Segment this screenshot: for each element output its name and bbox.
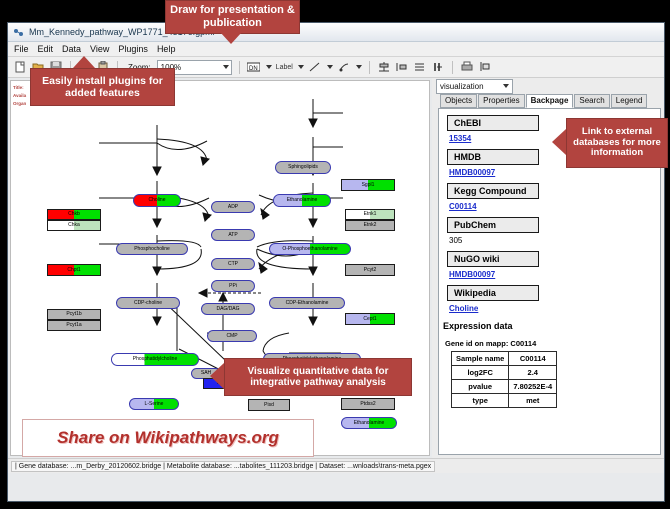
- table-key: type: [452, 394, 509, 408]
- db-header-4: NuGO wiki: [447, 251, 539, 267]
- pathway-node-label: Etnk2: [364, 223, 377, 228]
- db-header-5: Wikipedia: [447, 285, 539, 301]
- pathway-node-sgpl1[interactable]: Sgpl1: [341, 179, 395, 191]
- callout-visualize-arrow: [210, 363, 224, 389]
- datanode-icon[interactable]: DN: [247, 60, 261, 74]
- distribute-icon[interactable]: [395, 60, 409, 74]
- side-tabs: Objects Properties Backpage Search Legen…: [432, 94, 664, 108]
- pathway-node-chka[interactable]: Chka: [47, 220, 101, 231]
- menu-edit[interactable]: Edit: [38, 44, 54, 54]
- pathway-node-label: Choline: [149, 198, 166, 203]
- tab-properties[interactable]: Properties: [478, 94, 524, 108]
- tab-legend[interactable]: Legend: [611, 94, 648, 108]
- anchor-icon[interactable]: [337, 60, 351, 74]
- pathway-node-label: Pcyt1b: [66, 312, 81, 317]
- pathway-node-label: Ptdss2: [360, 402, 375, 407]
- pathway-node-cdp-ethanolamine[interactable]: CDP-Ethanolamine: [269, 297, 345, 309]
- pathway-node-label: O-Phosphoethanolamine: [282, 247, 337, 252]
- table-value: met: [509, 394, 557, 408]
- pathway-node-pcyt1a[interactable]: Pcyt1a: [47, 320, 101, 331]
- toolbar-separator: [239, 61, 240, 74]
- callout-share-text: Share on Wikipathways.org: [57, 428, 279, 448]
- pathway-node-pcyt2[interactable]: Pcyt2: [345, 264, 395, 276]
- pathway-node-adp[interactable]: ADP: [211, 201, 255, 213]
- pathway-node-label: Cept1: [363, 317, 376, 322]
- menu-bar: File Edit Data View Plugins Help: [8, 42, 664, 57]
- pathway-node-label: Phosphatidylcholine: [133, 357, 177, 362]
- tab-backpage[interactable]: Backpage: [526, 94, 574, 108]
- expression-table: Sample nameC00114log2FC2.4pvalue7.80252E…: [451, 351, 557, 408]
- align-icon[interactable]: [377, 60, 391, 74]
- table-row: Sample nameC00114: [452, 352, 557, 366]
- toolbar-separator: [452, 61, 453, 74]
- stack-icon[interactable]: [413, 60, 427, 74]
- expression-data-header: Expression data: [443, 321, 660, 331]
- table-value: 7.80252E-4: [509, 380, 557, 394]
- pathway-node-label: Pisd: [264, 403, 274, 408]
- pathway-node-label: Chkb: [68, 212, 80, 217]
- pathway-node-label: Ethanolamine: [354, 421, 385, 426]
- pathway-node-label: CTP: [228, 262, 238, 267]
- pathway-node-label: Pcyt2: [364, 268, 377, 273]
- table-key: pvalue: [452, 380, 509, 394]
- table-key: log2FC: [452, 366, 509, 380]
- callout-links: Link to external databases for more info…: [566, 118, 668, 168]
- callout-plugins: Easily install plugins for added feature…: [30, 68, 175, 106]
- db-header-1: HMDB: [447, 149, 539, 165]
- db-link-1[interactable]: HMDB00097: [449, 168, 660, 177]
- table-key: Sample name: [452, 352, 509, 366]
- pathway-node-pisd[interactable]: Pisd: [248, 399, 290, 411]
- pathway-node-label: Sgpl1: [362, 183, 375, 188]
- status-bar: | Gene database: ...m_Derby_20120602.bri…: [8, 458, 664, 473]
- toolbar-separator: [369, 61, 370, 74]
- pathway-node-label: L-Serine: [145, 402, 164, 407]
- pathway-node-phosphocholine[interactable]: Phosphocholine: [116, 243, 188, 255]
- pathway-node-etnk1[interactable]: Etnk1: [345, 209, 395, 220]
- pathway-canvas[interactable]: Title: Availa Organ: [10, 80, 430, 456]
- pathway-node-choline-top[interactable]: Choline: [133, 194, 181, 207]
- callout-draw-arrow: [220, 32, 242, 44]
- pathway-node-ctp[interactable]: CTP: [211, 258, 255, 270]
- pathway-node-cept1[interactable]: Cept1: [345, 313, 395, 325]
- pathway-node-label: Pcyt1a: [66, 323, 81, 328]
- pathway-node-atp[interactable]: ATP: [211, 229, 255, 241]
- new-icon[interactable]: [13, 60, 27, 74]
- table-value: 2.4: [509, 366, 557, 380]
- gene-id-line: Gene id on mapp: C00114: [445, 339, 660, 348]
- menu-file[interactable]: File: [14, 44, 29, 54]
- menu-plugins[interactable]: Plugins: [118, 44, 148, 54]
- tab-objects[interactable]: Objects: [440, 94, 477, 108]
- pathway-node-label: Sphingolipids: [288, 165, 318, 170]
- pathway-node-etnk2[interactable]: Etnk2: [345, 220, 395, 231]
- callout-visualize: Visualize quantitative data for integrat…: [224, 358, 412, 396]
- pathway-node-label: Ethanolamine: [287, 198, 318, 203]
- pathway-node-label: Chka: [68, 223, 80, 228]
- print-icon[interactable]: [460, 60, 474, 74]
- pathway-node-ptdss2[interactable]: Ptdss2: [341, 398, 395, 410]
- table-row: pvalue7.80252E-4: [452, 380, 557, 394]
- visualization-combobox[interactable]: visualization: [436, 79, 513, 94]
- pathway-node-ppi[interactable]: PPi: [211, 280, 255, 292]
- table-row: log2FC2.4: [452, 366, 557, 380]
- pathway-node-label: CMP: [226, 334, 237, 339]
- pathway-node-label: ADP: [228, 205, 238, 210]
- menu-data[interactable]: Data: [62, 44, 81, 54]
- line-icon[interactable]: [308, 60, 322, 74]
- visualization-value: visualization: [440, 82, 484, 91]
- tab-search[interactable]: Search: [574, 94, 609, 108]
- pathway-node-o-phosphoethanolamine[interactable]: O-Phosphoethanolamine: [269, 243, 351, 255]
- pathway-node-pcyt1b[interactable]: Pcyt1b: [47, 309, 101, 320]
- chevron-down-icon[interactable]: [298, 65, 304, 69]
- table-row: typemet: [452, 394, 557, 408]
- pathway-node-label: Phosphocholine: [134, 247, 170, 252]
- svg-text:DN: DN: [249, 66, 258, 72]
- title-bar: Mm_Kennedy_pathway_WP1771_45176.gpml: [8, 23, 664, 42]
- size-icon[interactable]: [431, 60, 445, 74]
- chevron-down-icon[interactable]: [327, 65, 333, 69]
- db-value-3: 305: [449, 236, 660, 245]
- chevron-down-icon: [503, 84, 509, 88]
- order-icon[interactable]: [478, 60, 492, 74]
- menu-view[interactable]: View: [90, 44, 109, 54]
- app-icon: [13, 27, 24, 38]
- pathway-node-cdp-choline[interactable]: CDP-choline: [116, 297, 180, 309]
- visualization-row: visualization: [432, 78, 664, 94]
- db-header-0: ChEBI: [447, 115, 539, 131]
- callout-draw: Draw for presentation & publication: [165, 0, 300, 34]
- callout-links-arrow: [552, 129, 566, 155]
- pathway-node-chpt1[interactable]: Chpt1: [47, 264, 101, 276]
- db-header-3: PubChem: [447, 217, 539, 233]
- db-link-4[interactable]: HMDB00097: [449, 270, 660, 279]
- pathway-node-label: CDP-choline: [134, 301, 162, 306]
- pathway-node-ethanolamine-right[interactable]: Ethanolamine: [341, 417, 397, 429]
- pathway-node-phosphatidylcholine[interactable]: Phosphatidylcholine: [111, 353, 199, 366]
- pathway-node-label: DAG/DAG: [216, 307, 239, 312]
- db-header-2: Kegg Compound: [447, 183, 539, 199]
- menu-help[interactable]: Help: [157, 44, 176, 54]
- pathway-node-sphingolipids[interactable]: Sphingolipids: [275, 161, 331, 174]
- pathway-node-chkb[interactable]: Chkb: [47, 209, 101, 220]
- chevron-down-icon: [223, 65, 229, 69]
- pathway-node-label: CDP-Ethanolamine: [286, 301, 329, 306]
- callout-share: Share on Wikipathways.org: [22, 419, 314, 457]
- pathway-node-l-serine-left[interactable]: L-Serine: [129, 398, 179, 410]
- pathway-node-dagdag[interactable]: DAG/DAG: [201, 303, 255, 315]
- pathway-node-cmp[interactable]: CMP: [207, 330, 257, 342]
- callout-plugins-arrow: [73, 56, 95, 68]
- pathway-node-label: Chpt1: [67, 268, 80, 273]
- chevron-down-icon[interactable]: [266, 65, 272, 69]
- pathway-node-ethanolamine-top[interactable]: Ethanolamine: [273, 194, 331, 207]
- chevron-down-icon[interactable]: [356, 65, 362, 69]
- label-tool-label[interactable]: Label: [276, 64, 293, 71]
- table-value: C00114: [509, 352, 557, 366]
- db-link-5[interactable]: Choline: [449, 304, 660, 313]
- pathway-node-label: Etnk1: [364, 212, 377, 217]
- pathway-node-label: ATP: [228, 233, 237, 238]
- status-text: | Gene database: ...m_Derby_20120602.bri…: [11, 461, 435, 472]
- db-link-2[interactable]: C00114: [449, 202, 660, 211]
- pathway-node-label: PPi: [229, 284, 237, 289]
